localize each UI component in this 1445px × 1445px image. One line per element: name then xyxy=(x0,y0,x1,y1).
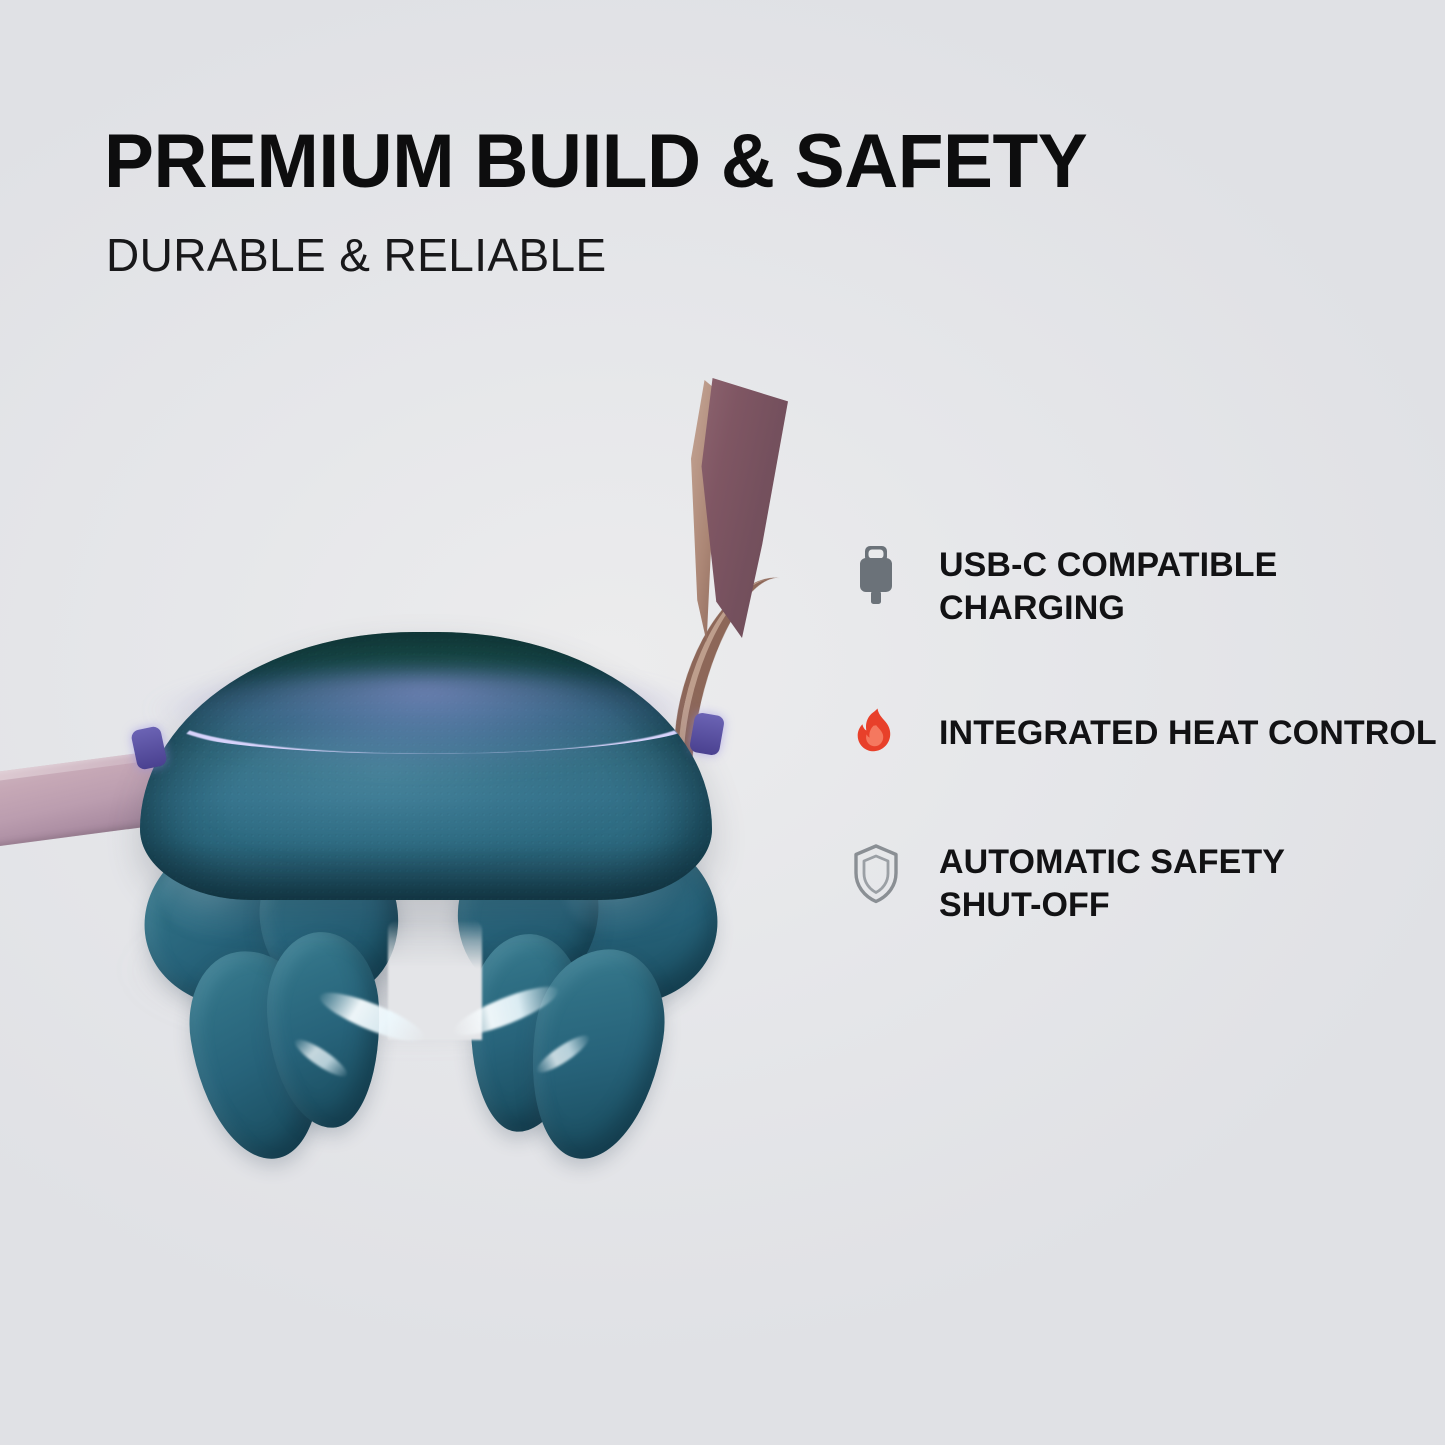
page-title: PREMIUM BUILD & SAFETY xyxy=(104,120,1087,204)
feature-label-safety-shutoff: AUTOMATIC SAFETY SHUT-OFF xyxy=(939,837,1285,927)
feature-item-safety-shutoff: AUTOMATIC SAFETY SHUT-OFF xyxy=(845,837,1445,927)
usb-c-plug-icon xyxy=(845,540,907,614)
feature-item-usb-c: USB-C COMPATIBLE CHARGING xyxy=(845,540,1445,630)
flame-icon xyxy=(845,703,907,763)
device-body xyxy=(140,632,712,900)
feature-label-heat-control: INTEGRATED HEAT CONTROL xyxy=(939,703,1437,755)
massager-device xyxy=(140,632,712,900)
feature-label-usb-c: USB-C COMPATIBLE CHARGING xyxy=(939,540,1277,630)
product-image xyxy=(0,360,860,1240)
led-ring-core xyxy=(160,682,704,754)
shield-icon xyxy=(845,837,907,911)
product-infographic: PREMIUM BUILD & SAFETY DURABLE & RELIABL… xyxy=(0,0,1445,1445)
feature-item-heat-control: INTEGRATED HEAT CONTROL xyxy=(845,703,1445,763)
led-ring xyxy=(146,682,706,754)
page-subtitle: DURABLE & RELIABLE xyxy=(106,228,607,282)
